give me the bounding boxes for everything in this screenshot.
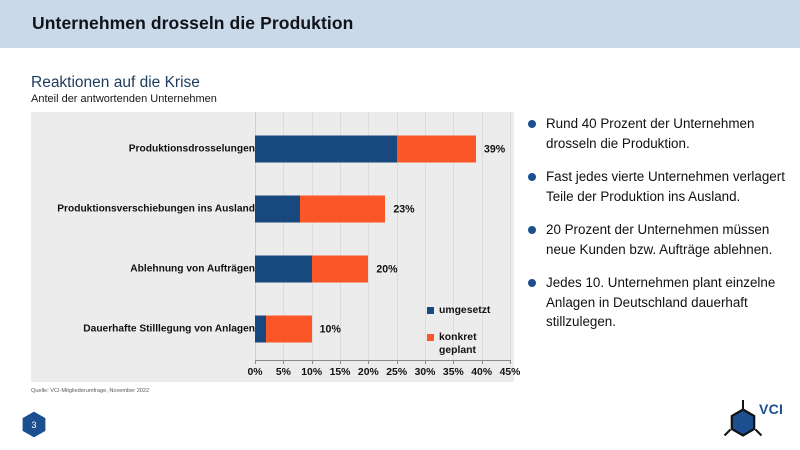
bar-category-label: Produktionsverschiebungen ins Ausland [57,204,255,215]
x-axis-tick-label: 15% [330,367,351,378]
x-axis-tick-label: 10% [301,367,322,378]
x-axis-tick-mark [510,360,511,364]
x-axis-tick-mark [425,360,426,364]
x-axis-tick-mark [482,360,483,364]
bar-track: 23% [255,196,510,223]
legend-label: konkret geplant [439,331,513,357]
x-axis-tick-label: 20% [358,367,379,378]
x-axis-tick-label: 45% [500,367,521,378]
x-axis-tick-mark [453,360,454,364]
bar-segment-umgesetzt [255,196,300,223]
key-finding-text: Fast jedes vierte Unternehmen verlagert … [546,169,785,204]
legend-item: umgesetzt [427,304,513,317]
bar-value-label: 10% [320,323,341,335]
key-finding-text: 20 Prozent der Unternehmen müssen neue K… [546,222,772,257]
source-note: Quelle: VCI-Mitgliederumfrage, November … [31,388,149,394]
bar-track: 20% [255,256,510,283]
page-number-text: 3 [22,411,46,438]
legend-swatch [427,307,434,314]
key-finding-item: 20 Prozent der Unternehmen müssen neue K… [527,220,789,259]
x-axis-tick-mark [368,360,369,364]
x-axis-line [255,360,511,361]
key-finding-item: Jedes 10. Unternehmen plant einzelne Anl… [527,273,789,332]
bar-segment-konkret [266,316,311,343]
key-finding-item: Fast jedes vierte Unternehmen verlagert … [527,167,789,206]
legend-label: umgesetzt [439,304,490,317]
x-axis-tick-mark [312,360,313,364]
x-axis-tick-mark [340,360,341,364]
bar-category-label: Produktionsdrosselungen [129,144,255,155]
bar-segment-konkret [397,136,476,163]
x-axis-tick-label: 40% [471,367,492,378]
vci-logo: VCI [723,396,785,442]
legend-item: konkret geplant [427,331,513,357]
x-axis-tick-label: 5% [276,367,291,378]
chart-bar-row: Produktionsdrosselungen39% [31,118,514,180]
slide-title: Unternehmen drosseln die Produktion [32,13,353,34]
x-axis-tick-mark [283,360,284,364]
bar-segment-konkret [312,256,369,283]
x-axis-tick-mark [255,360,256,364]
key-finding-item: Rund 40 Prozent der Unternehmen drosseln… [527,114,789,153]
bar-category-label: Dauerhafte Stilllegung von Anlagen [83,324,255,335]
x-axis-tick-label: 30% [415,367,436,378]
chart-subtitle: Anteil der antwortenden Unternehmen [31,93,217,105]
bar-value-label: 39% [484,143,505,155]
key-finding-text: Jedes 10. Unternehmen plant einzelne Anl… [546,275,775,329]
chart-title: Reaktionen auf die Krise [31,74,200,92]
x-axis-tick-label: 25% [386,367,407,378]
vci-wordmark: VCI [759,401,783,417]
bar-segment-umgesetzt [255,136,397,163]
chart-bar-row: Produktionsverschiebungen ins Ausland23% [31,178,514,240]
key-findings-list: Rund 40 Prozent der Unternehmen drosseln… [527,114,789,346]
chart-plot-area: Produktionsdrosselungen39%Produktionsver… [31,112,514,382]
bar-segment-umgesetzt [255,256,312,283]
bullet-dot-icon [528,279,536,287]
bar-segment-umgesetzt [255,316,266,343]
bar-segment-konkret [300,196,385,223]
chart-bar-row: Ablehnung von Aufträgen20% [31,238,514,300]
bar-value-label: 23% [393,203,414,215]
benzene-ring-icon [723,396,763,440]
key-finding-text: Rund 40 Prozent der Unternehmen drosseln… [546,116,754,151]
bar-category-label: Ablehnung von Aufträgen [130,264,255,275]
x-axis-tick-label: 35% [443,367,464,378]
legend-swatch [427,334,434,341]
bullet-dot-icon [528,173,536,181]
bar-value-label: 20% [376,263,397,275]
x-axis-tick-label: 0% [247,367,262,378]
bullet-dot-icon [528,120,536,128]
bar-track: 39% [255,136,510,163]
bullet-dot-icon [528,226,536,234]
x-axis-tick-mark [397,360,398,364]
page-number-badge: 3 [22,411,46,438]
